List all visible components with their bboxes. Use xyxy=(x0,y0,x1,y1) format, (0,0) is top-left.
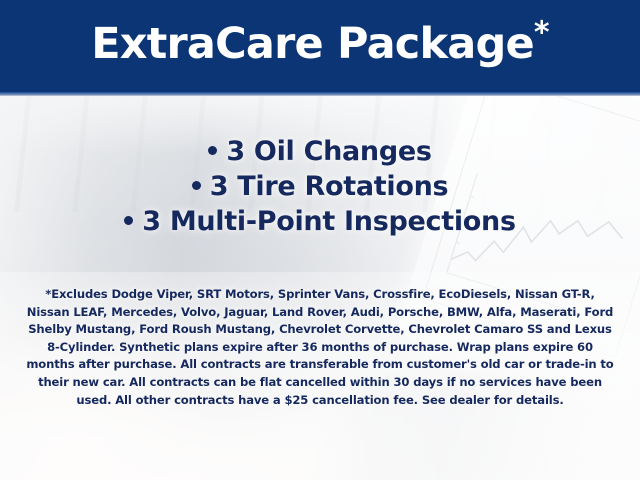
page-title-text: ExtraCare Package xyxy=(91,19,534,69)
benefit-item-multi-point-inspections: 3 Multi-Point Inspections xyxy=(0,204,640,239)
benefit-label: 3 Multi-Point Inspections xyxy=(142,206,516,237)
benefit-label: 3 Tire Rotations xyxy=(210,171,449,202)
extracare-package-banner: ExtraCare Package* 3 Oil Changes 3 Tire … xyxy=(0,0,640,480)
disclaimer-block: *Excludes Dodge Viper, SRT Motors, Sprin… xyxy=(26,286,614,409)
benefits-list: 3 Oil Changes 3 Tire Rotations 3 Multi-P… xyxy=(0,134,640,239)
header-band: ExtraCare Package* xyxy=(0,0,640,92)
bullet-dot-icon xyxy=(208,146,217,155)
benefit-item-oil-changes: 3 Oil Changes xyxy=(0,134,640,169)
header-divider xyxy=(0,92,640,96)
bullet-dot-icon xyxy=(192,181,201,190)
benefit-label: 3 Oil Changes xyxy=(226,136,431,167)
bullet-dot-icon xyxy=(124,216,133,225)
page-title: ExtraCare Package* xyxy=(91,23,549,69)
benefit-item-tire-rotations: 3 Tire Rotations xyxy=(0,169,640,204)
page-title-asterisk: * xyxy=(534,16,549,51)
disclaimer-text: *Excludes Dodge Viper, SRT Motors, Sprin… xyxy=(26,286,614,409)
